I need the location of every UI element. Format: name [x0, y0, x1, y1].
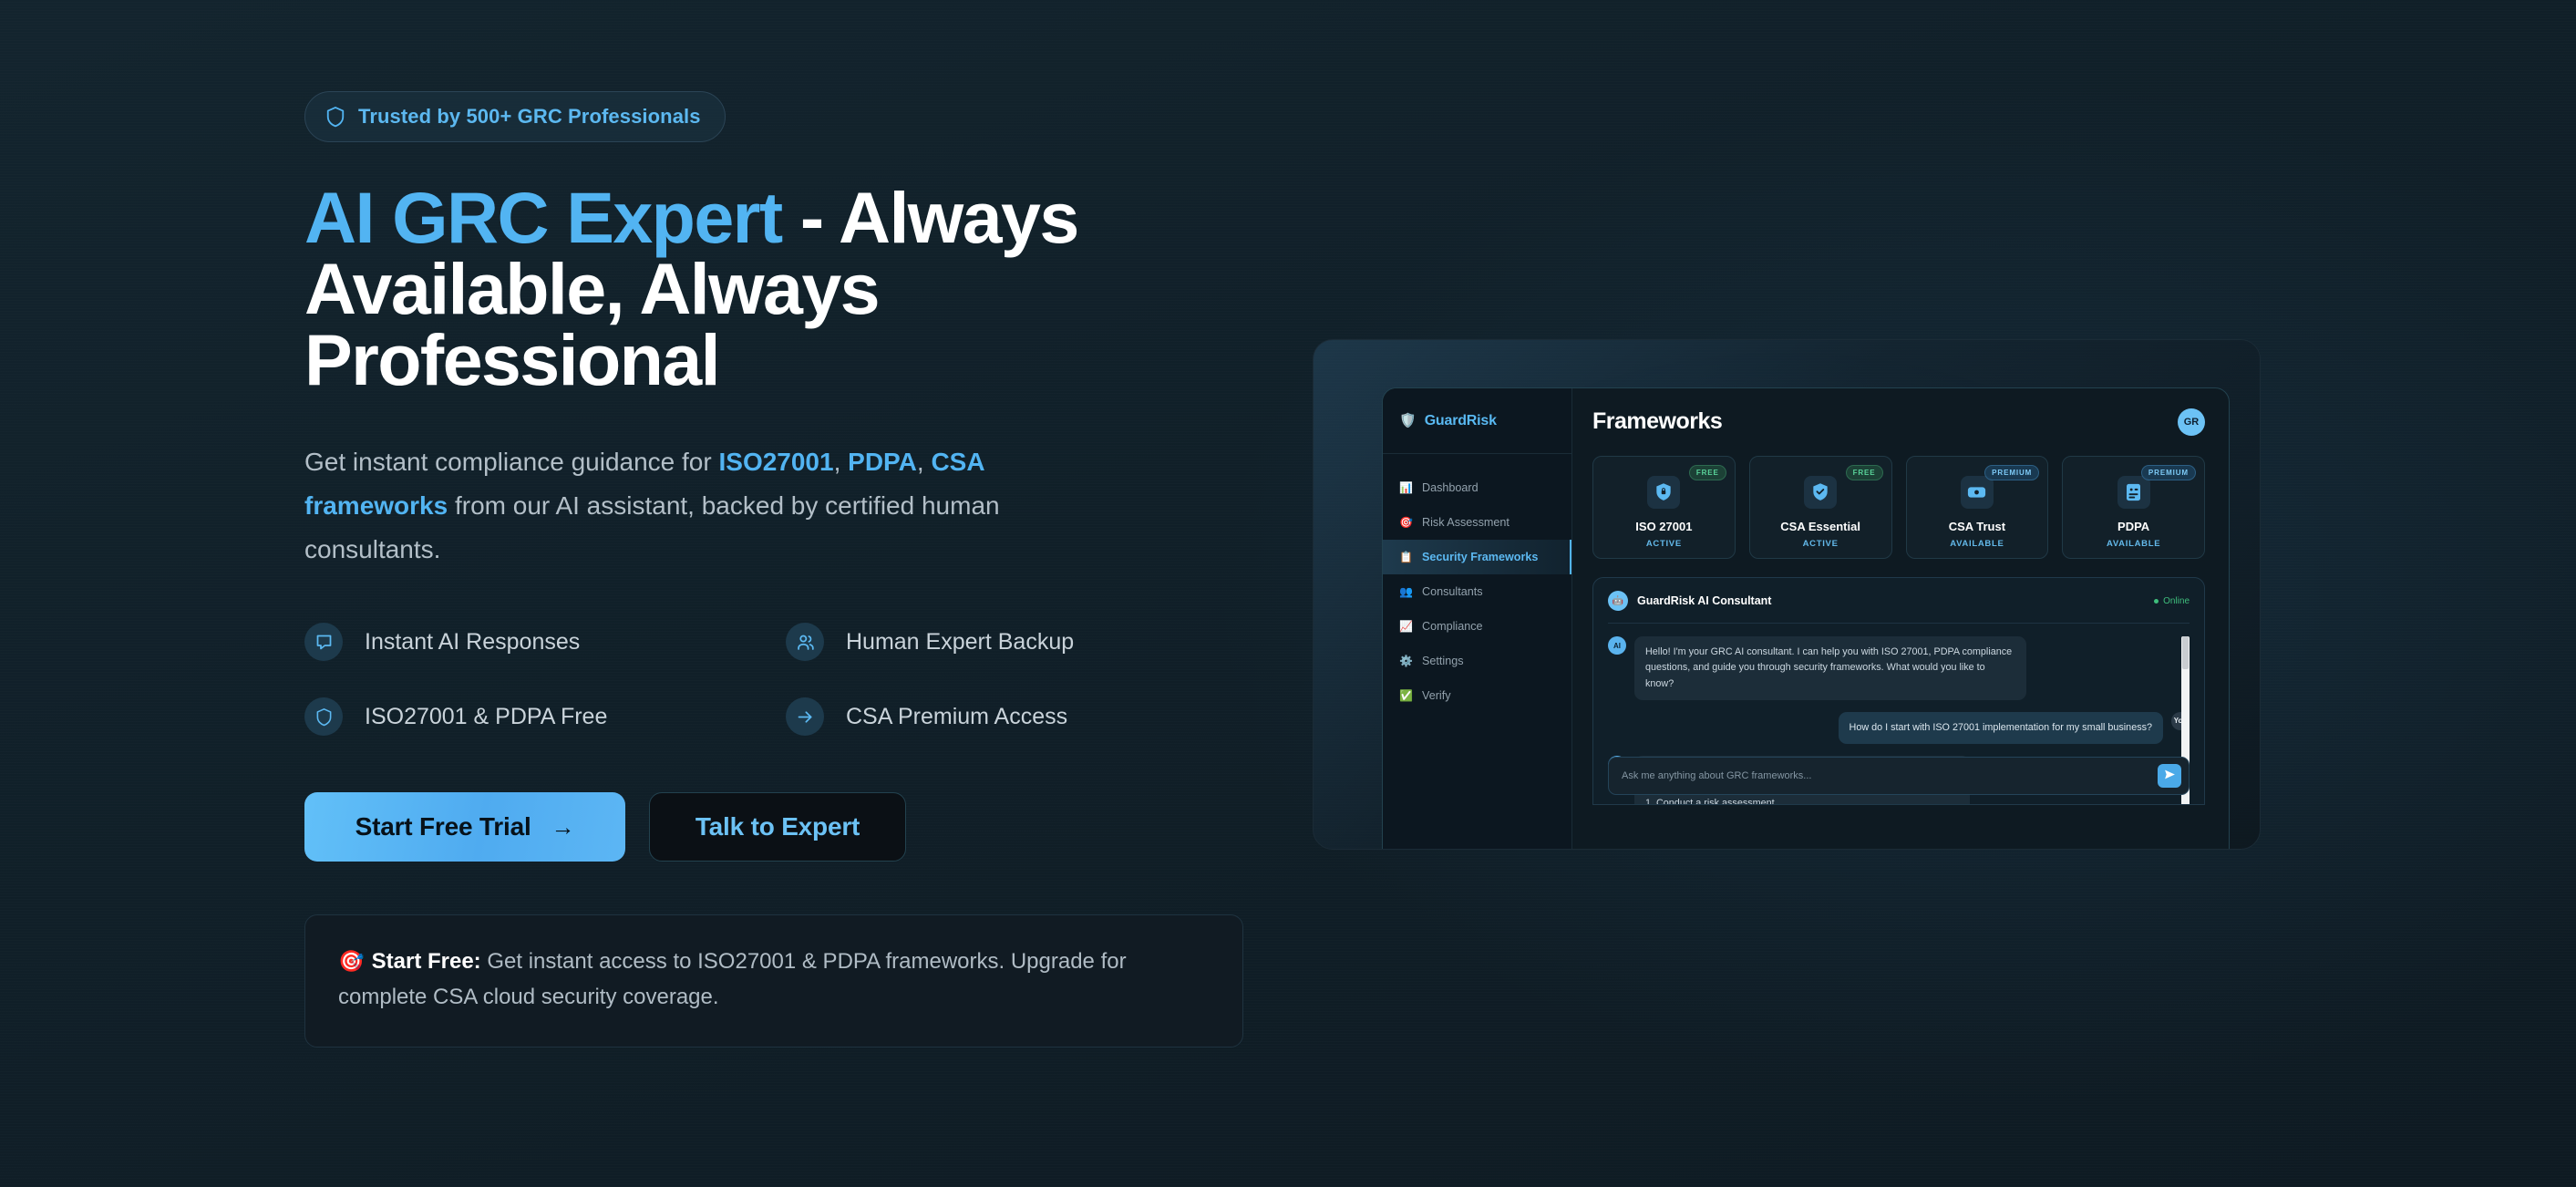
sidebar-item-risk-assessment[interactable]: 🎯 Risk Assessment: [1383, 505, 1571, 540]
shield-icon: [325, 106, 345, 128]
users-icon: [786, 623, 824, 661]
start-free-note: 🎯Start Free: Get instant access to ISO27…: [304, 914, 1243, 1048]
dashboard-window: 🛡️ GuardRisk 📊 Dashboard 🎯 Risk Assessme…: [1382, 387, 2230, 850]
sidebar-item-consultants[interactable]: 👥 Consultants: [1383, 574, 1571, 609]
status-badge: FREE: [1846, 465, 1883, 480]
chat-message-user: How do I start with ISO 27001 implementa…: [1608, 712, 2190, 744]
start-free-trial-button[interactable]: Start Free Trial →: [304, 792, 625, 862]
note-strong: Start Free:: [372, 949, 481, 974]
sidebar-item-label: Risk Assessment: [1422, 516, 1510, 529]
subtitle-highlight-pdpa: PDPA: [848, 448, 917, 476]
framework-card-csa-trust[interactable]: PREMIUM CSA Trust AVAILABLE: [1906, 456, 2049, 559]
feature-item-iso27001-pdpa-free: ISO27001 & PDPA Free: [304, 697, 786, 736]
mockup-frame: 🛡️ GuardRisk 📊 Dashboard 🎯 Risk Assessme…: [1313, 339, 2261, 850]
chart-icon: 📊: [1399, 482, 1412, 493]
subtitle-part1: Get instant compliance guidance for: [304, 448, 718, 476]
check-icon: ✅: [1399, 690, 1412, 701]
framework-status: AVAILABLE: [1950, 539, 2004, 549]
dashboard-page-title: Frameworks: [1592, 408, 1722, 435]
brand: 🛡️ GuardRisk: [1383, 388, 1571, 454]
ai-avatar: AI: [1608, 636, 1626, 655]
sidebar-item-label: Settings: [1422, 655, 1464, 667]
feature-label: Instant AI Responses: [365, 629, 580, 655]
sidebar-nav: 📊 Dashboard 🎯 Risk Assessment 📋 Security…: [1383, 454, 1571, 713]
chat-bubble-icon: [304, 623, 343, 661]
shield-icon: [304, 697, 343, 736]
framework-name: CSA Essential: [1780, 520, 1860, 533]
dashboard-main: Frameworks GR FREE: [1572, 388, 2229, 850]
dashboard-mockup: 🛡️ GuardRisk 📊 Dashboard 🎯 Risk Assessme…: [1313, 339, 2261, 850]
framework-status: ACTIVE: [1646, 539, 1682, 549]
chat-bubble: Hello! I'm your GRC AI consultant. I can…: [1634, 636, 2026, 700]
talk-to-expert-button[interactable]: Talk to Expert: [649, 792, 906, 862]
shield-icon: 🛡️: [1399, 414, 1417, 428]
sidebar-item-compliance[interactable]: 📈 Compliance: [1383, 609, 1571, 644]
feature-label: CSA Premium Access: [846, 704, 1067, 730]
ai-chat-panel: 🤖 GuardRisk AI Consultant Online AI: [1592, 577, 2205, 805]
sidebar-item-dashboard[interactable]: 📊 Dashboard: [1383, 470, 1571, 505]
clipboard-icon: 📋: [1399, 552, 1412, 563]
framework-status: ACTIVE: [1803, 539, 1839, 549]
feature-label: Human Expert Backup: [846, 629, 1074, 655]
arrow-right-icon: →: [551, 815, 575, 839]
scrollbar-thumb[interactable]: [2182, 636, 2189, 669]
hero-subtitle: Get instant compliance guidance for ISO2…: [304, 440, 1025, 572]
framework-card-csa-essential[interactable]: FREE CSA Essential ACTIVE: [1749, 456, 1892, 559]
chat-header: 🤖 GuardRisk AI Consultant Online: [1608, 591, 2190, 624]
trust-badge: Trusted by 500+ GRC Professionals: [304, 91, 726, 142]
brand-name: GuardRisk: [1425, 413, 1497, 429]
framework-status: AVAILABLE: [2107, 539, 2160, 549]
status-dot-icon: [2154, 599, 2159, 604]
framework-card-grid: FREE ISO 27001 ACTIVE: [1592, 456, 2205, 559]
hero-page: Trusted by 500+ GRC Professionals AI GRC…: [0, 0, 2576, 1187]
feature-item-csa-premium-access: CSA Premium Access: [786, 697, 1267, 736]
shield-check-icon: [1804, 476, 1837, 509]
cloud-eye-icon: [1961, 476, 1994, 509]
sidebar-item-settings[interactable]: ⚙️ Settings: [1383, 644, 1571, 678]
online-status: Online: [2154, 596, 2190, 606]
page-title: AI GRC Expert - Always Available, Always…: [304, 182, 1243, 397]
users-icon: 👥: [1399, 586, 1412, 597]
feature-label: ISO27001 & PDPA Free: [365, 704, 607, 730]
status-badge: PREMIUM: [1984, 465, 2039, 480]
framework-name: CSA Trust: [1949, 520, 2005, 533]
gear-icon: ⚙️: [1399, 655, 1412, 666]
status-badge: FREE: [1689, 465, 1726, 480]
hero-left-column: Trusted by 500+ GRC Professionals AI GRC…: [304, 91, 1243, 1048]
sidebar-item-label: Consultants: [1422, 585, 1483, 598]
subtitle-part3: ,: [917, 448, 932, 476]
sidebar-item-label: Compliance: [1422, 620, 1483, 633]
chat-identity: 🤖 GuardRisk AI Consultant: [1608, 591, 1771, 611]
cta-group: Start Free Trial → Talk to Expert: [304, 792, 1243, 862]
subtitle-part2: ,: [834, 448, 849, 476]
sidebar-item-verify[interactable]: ✅ Verify: [1383, 678, 1571, 713]
status-badge: PREMIUM: [2141, 465, 2196, 480]
trust-badge-label: Trusted by 500+ GRC Professionals: [358, 105, 701, 129]
note-text: 🎯Start Free: Get instant access to ISO27…: [338, 944, 1210, 1016]
start-free-trial-label: Start Free Trial: [355, 812, 531, 841]
shield-lock-icon: [1647, 476, 1680, 509]
dashboard-header: Frameworks GR: [1592, 408, 2205, 436]
feature-item-instant-ai-responses: Instant AI Responses: [304, 623, 786, 661]
dashboard-sidebar: 🛡️ GuardRisk 📊 Dashboard 🎯 Risk Assessme…: [1383, 388, 1572, 850]
sidebar-item-security-frameworks[interactable]: 📋 Security Frameworks: [1383, 540, 1571, 574]
arrow-right-icon: [786, 697, 824, 736]
graph-icon: 📈: [1399, 621, 1412, 632]
chat-bubble: How do I start with ISO 27001 implementa…: [1839, 712, 2163, 744]
target-icon: 🎯: [338, 949, 365, 973]
headline-accent: AI GRC Expert: [304, 177, 782, 258]
id-card-icon: [2117, 476, 2150, 509]
online-label: Online: [2163, 596, 2190, 606]
framework-card-pdpa[interactable]: PREMIUM PDPA: [2062, 456, 2205, 559]
feature-list: Instant AI Responses Human Expert Backup: [304, 623, 1271, 736]
chat-input-placeholder: Ask me anything about GRC frameworks...: [1622, 770, 2158, 781]
chat-bubble-line2: 1. Conduct a risk assessment: [1645, 796, 1959, 805]
sidebar-item-label: Security Frameworks: [1422, 551, 1538, 563]
sidebar-item-label: Dashboard: [1422, 481, 1479, 494]
sidebar-item-label: Verify: [1422, 689, 1451, 702]
framework-name: ISO 27001: [1635, 520, 1692, 533]
chat-title: GuardRisk AI Consultant: [1637, 594, 1771, 607]
avatar[interactable]: GR: [2178, 408, 2205, 436]
framework-name: PDPA: [2117, 520, 2149, 533]
chat-message-ai: AI Hello! I'm your GRC AI consultant. I …: [1608, 636, 2190, 700]
chat-input-bar[interactable]: Ask me anything about GRC frameworks...: [1608, 757, 2190, 795]
robot-icon: 🤖: [1608, 591, 1628, 611]
send-button[interactable]: [2158, 764, 2181, 788]
target-icon: 🎯: [1399, 517, 1412, 528]
subtitle-highlight-iso: ISO27001: [718, 448, 833, 476]
framework-card-iso-27001[interactable]: FREE ISO 27001 ACTIVE: [1592, 456, 1736, 559]
feature-item-human-expert-backup: Human Expert Backup: [786, 623, 1267, 661]
send-icon: [2164, 769, 2176, 783]
